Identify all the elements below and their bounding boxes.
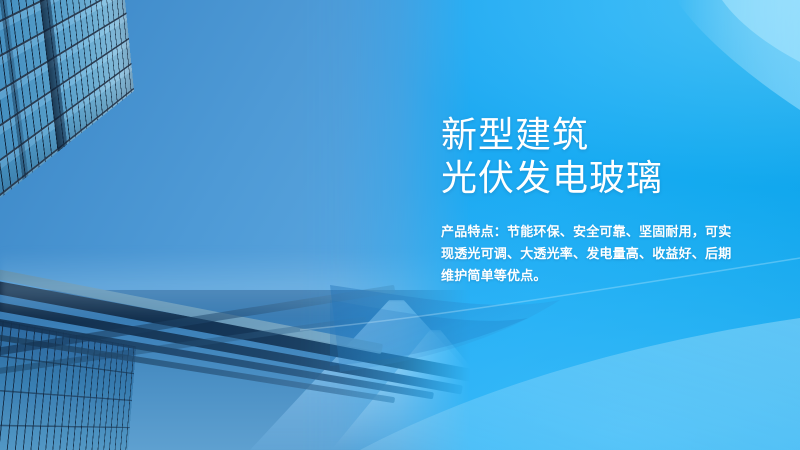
copy-block: 新型建筑 光伏发电玻璃 产品特点：节能环保、安全可靠、坚固耐用，可实现透光可调、… [441, 113, 781, 287]
headline-line-1: 新型建筑 [441, 113, 781, 156]
building-photo [0, 0, 470, 450]
headline-line-2: 光伏发电玻璃 [441, 156, 781, 199]
product-features-text: 产品特点：节能环保、安全可靠、坚固耐用，可实现透光可调、大透光率、发电量高、收益… [441, 221, 741, 287]
promo-banner: 新型建筑 光伏发电玻璃 产品特点：节能环保、安全可靠、坚固耐用，可实现透光可调、… [0, 0, 800, 450]
horizon-haze [0, 250, 470, 320]
